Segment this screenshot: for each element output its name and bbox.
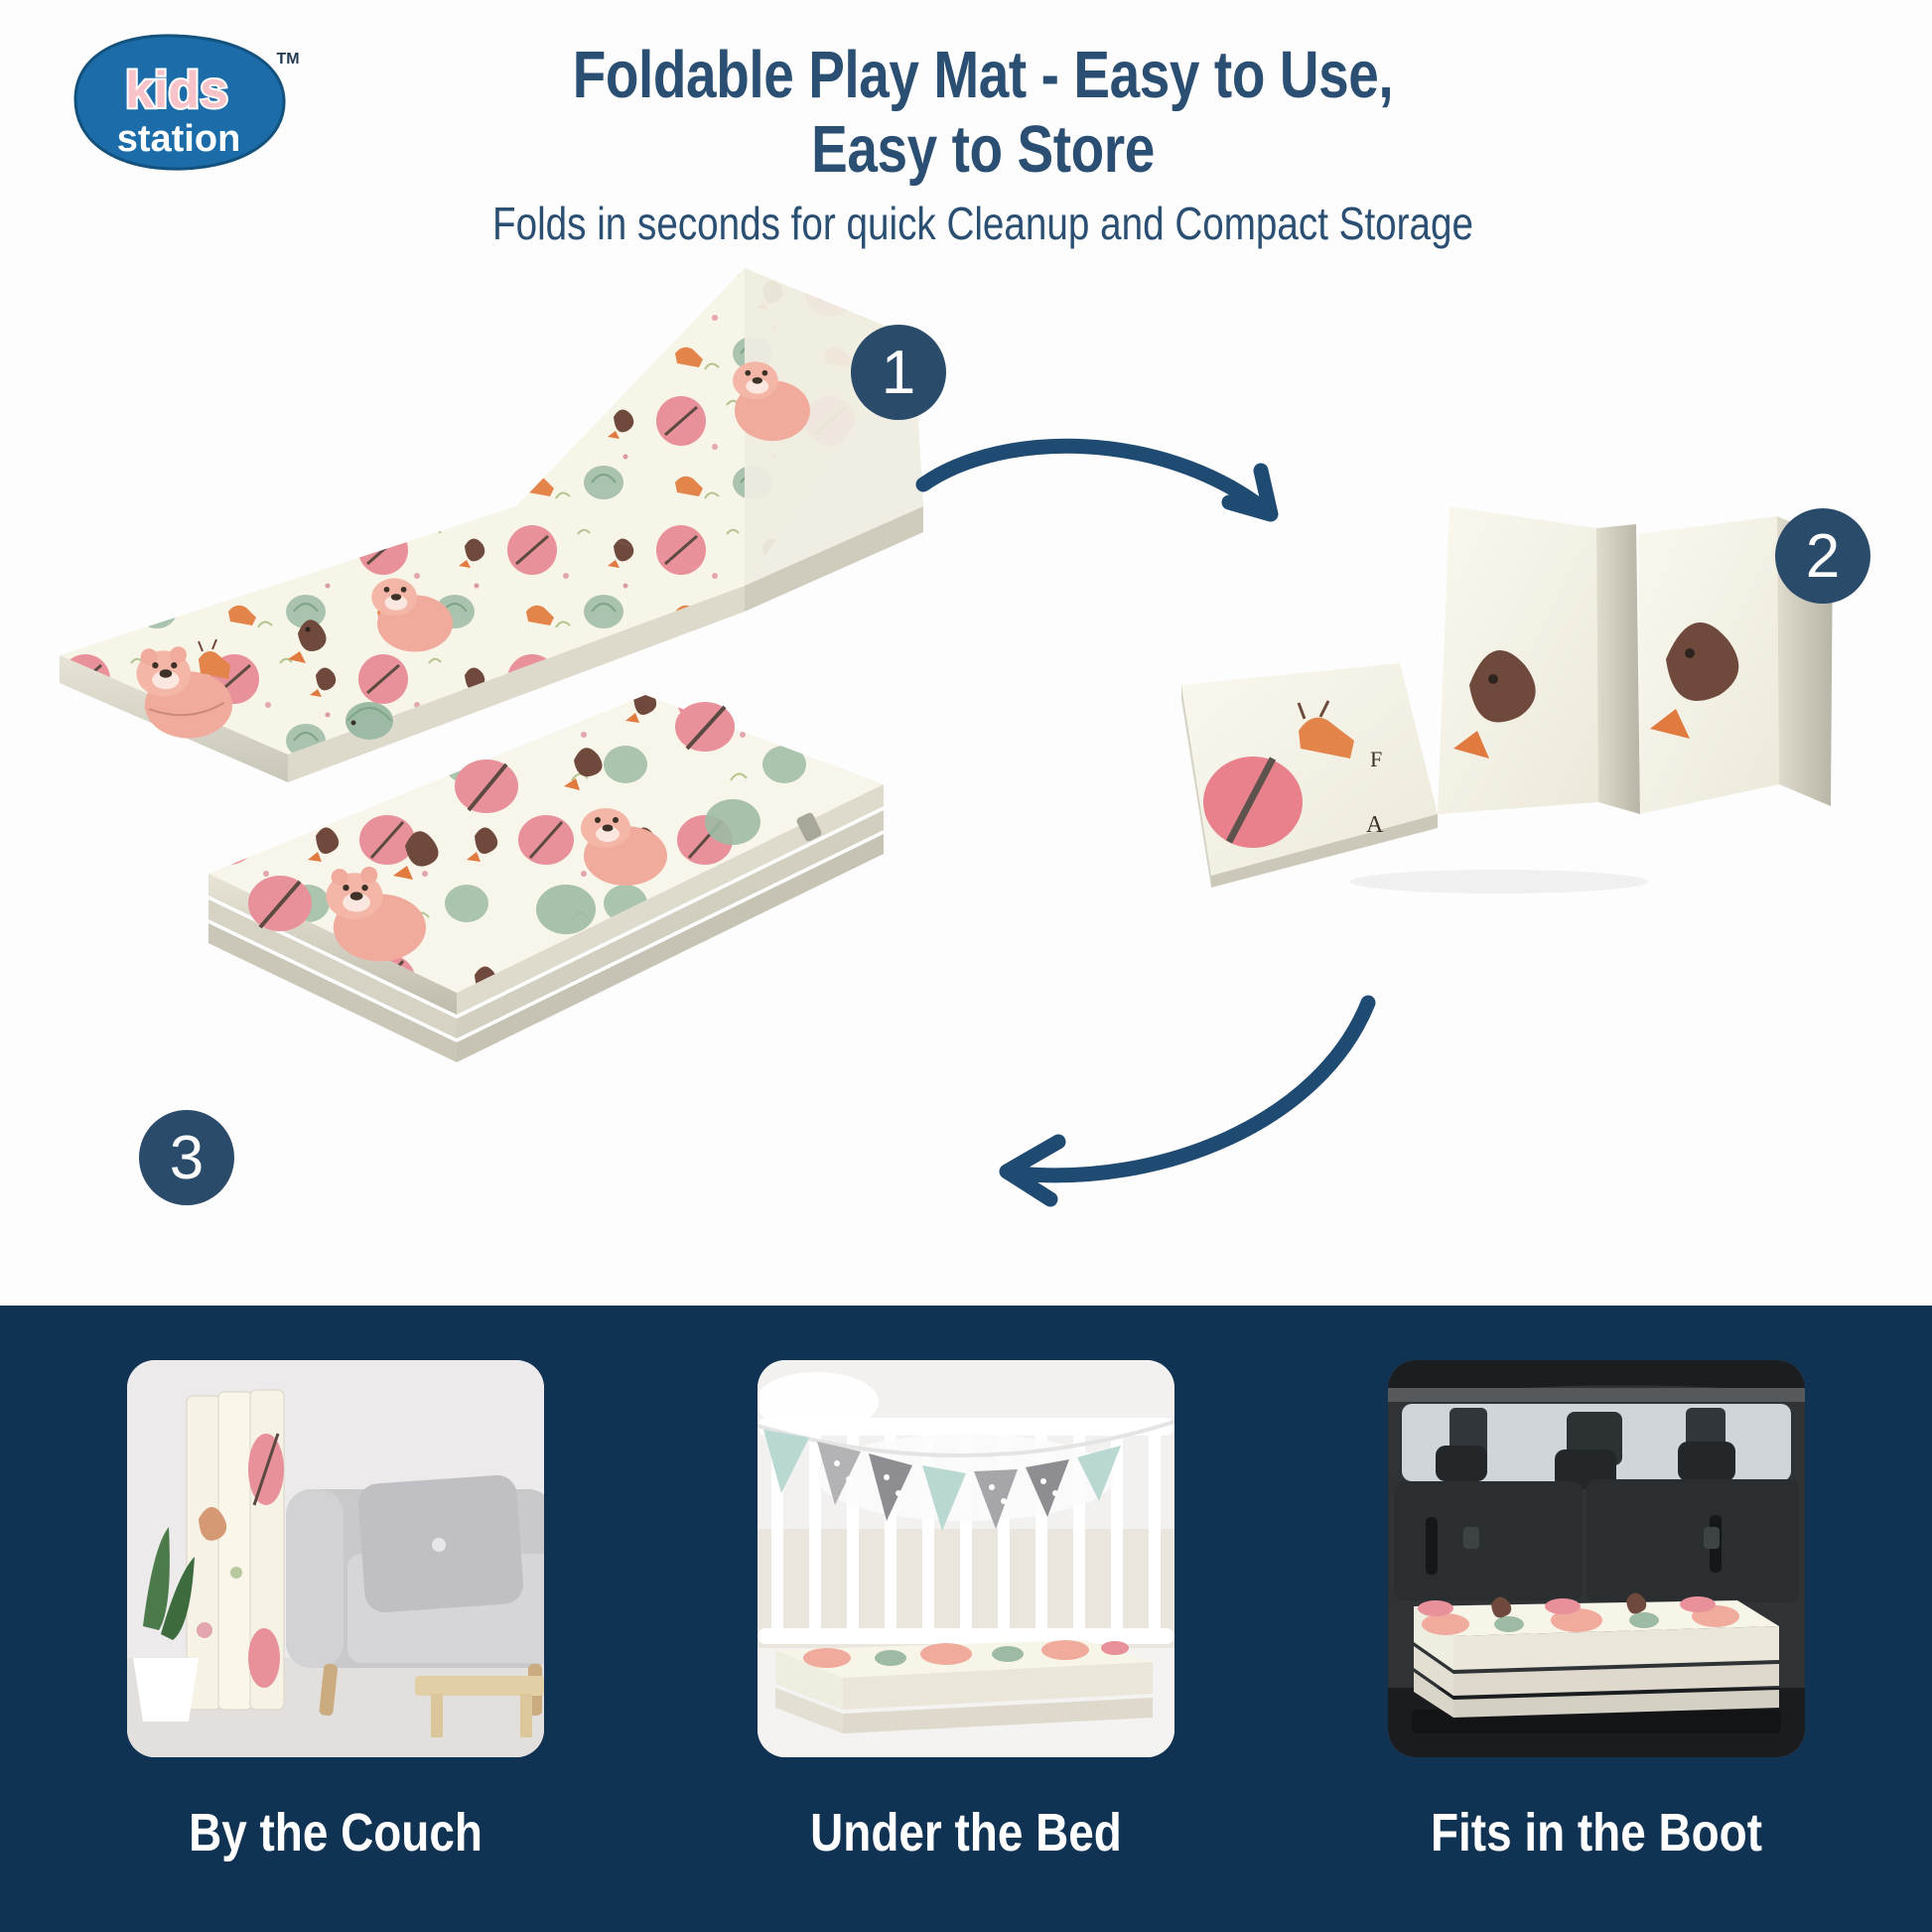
use-case-cards	[0, 1360, 1932, 1797]
infographic-page: kids station TM Foldable Play Mat - Easy…	[0, 0, 1932, 1932]
trademark-symbol: TM	[276, 51, 299, 68]
use-case-caption-boot: Fits in the Boot	[1415, 1802, 1778, 1863]
use-case-card-boot	[1388, 1360, 1805, 1757]
step-2-number: 2	[1806, 521, 1840, 592]
page-title: Foldable Play Mat - Easy to Use, Easy to…	[421, 38, 1545, 187]
use-case-footer: By the Couch Under the Bed Fits in the B…	[0, 1306, 1932, 1932]
svg-text:A: A	[1366, 812, 1384, 838]
page-subtitle: Folds in seconds for quick Cleanup and C…	[407, 197, 1558, 250]
brand-logo: kids station TM	[58, 28, 306, 182]
title-block: Foldable Play Mat - Easy to Use, Easy to…	[298, 38, 1668, 250]
step-3-number: 3	[170, 1123, 204, 1193]
use-case-caption-bed: Under the Bed	[784, 1802, 1148, 1863]
step-1-number: 1	[882, 338, 915, 408]
svg-text:F: F	[1370, 747, 1382, 771]
header: kids station TM Foldable Play Mat - Easy…	[0, 0, 1932, 298]
logo-text-kids: kids	[125, 62, 228, 119]
use-case-card-bed	[758, 1360, 1174, 1757]
step-2-badge: 2	[1775, 508, 1870, 604]
use-case-caption-couch: By the Couch	[154, 1802, 517, 1863]
step-3-badge: 3	[139, 1110, 234, 1205]
step-2-image: F A	[1172, 486, 1866, 953]
steps-section: 1	[0, 298, 1932, 1306]
logo-text-station: station	[117, 118, 241, 160]
use-case-card-couch	[127, 1360, 544, 1757]
arrow-step2-to-step3	[973, 993, 1390, 1211]
step-3-image	[189, 665, 913, 1132]
step-1-badge: 1	[851, 325, 946, 420]
